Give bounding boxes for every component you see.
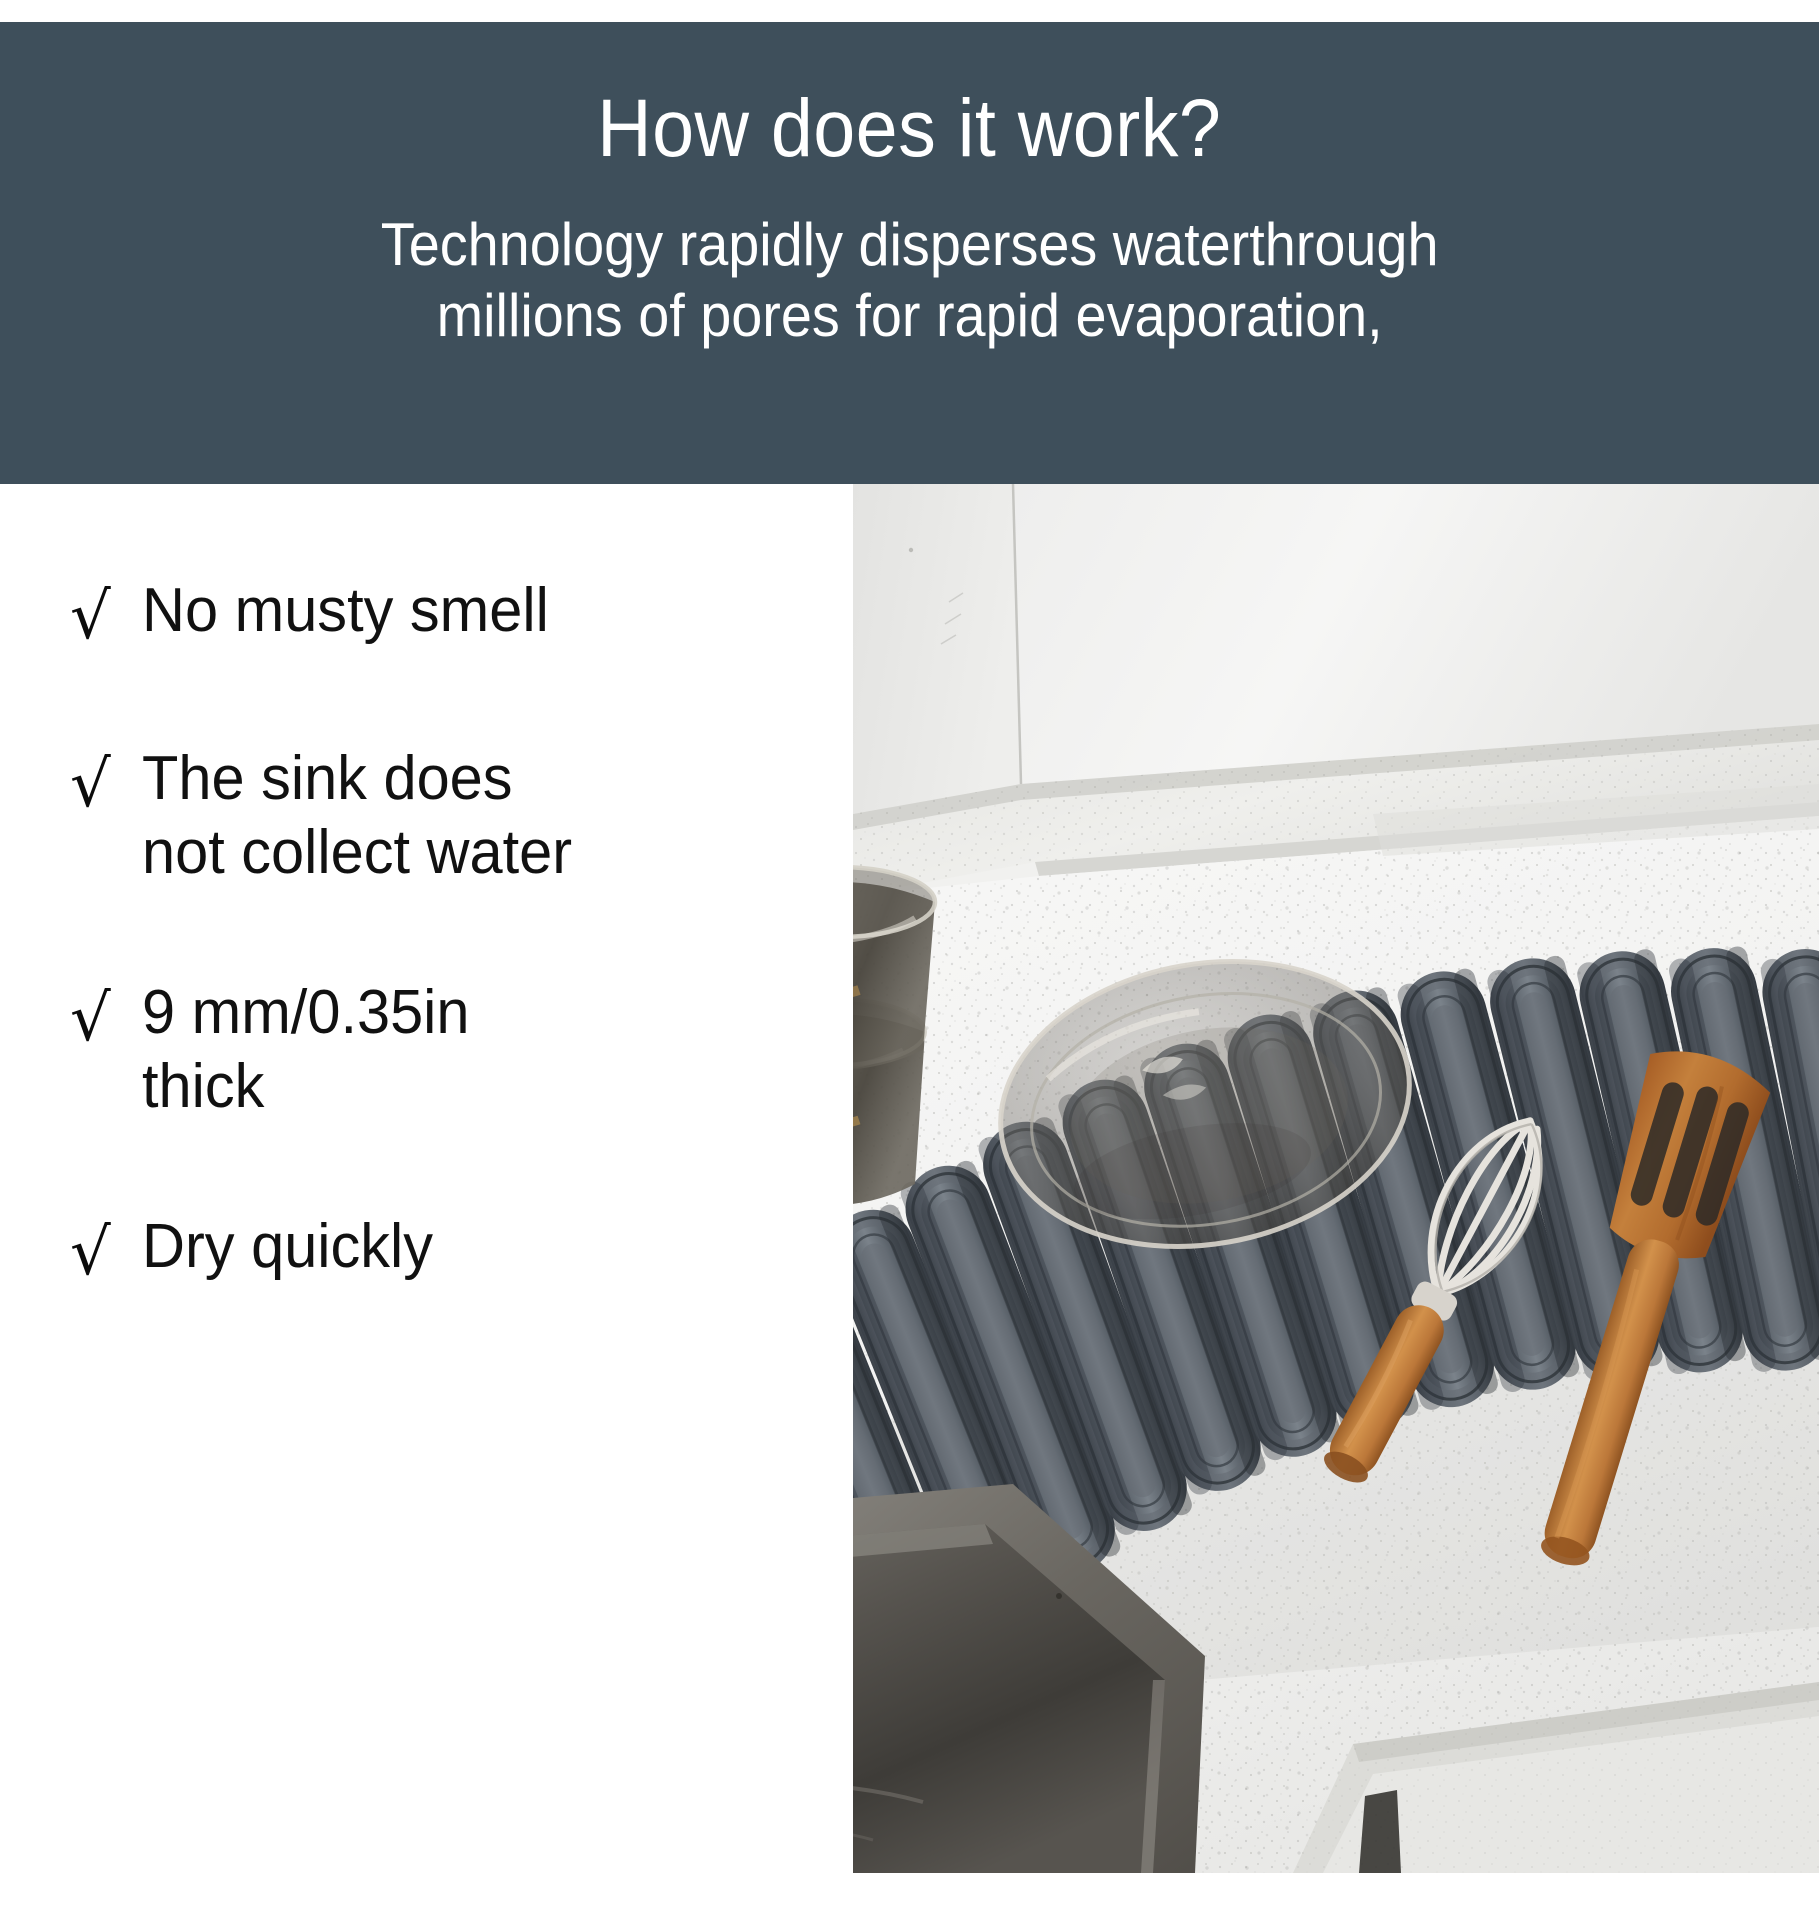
list-item: √ No musty smell [70, 574, 830, 654]
feature-label-3-line-2: thick [142, 1050, 802, 1124]
subtitle-line-2: millions of pores for rapid evaporation, [381, 281, 1439, 352]
list-item: √ The sink does not collect water [70, 742, 830, 890]
product-photo [853, 484, 1819, 1873]
page-title: How does it work? [597, 88, 1221, 170]
feature-label-2-line-1: The sink does [142, 742, 802, 816]
feature-label-4: Dry quickly [142, 1210, 802, 1284]
list-item: √ 9 mm/0.35in thick [70, 976, 830, 1124]
glass-tumbler-front [853, 867, 935, 1070]
wall-mark [909, 548, 913, 552]
feature-label-1: No musty smell [142, 574, 802, 648]
feature-label-3-line-1: 9 mm/0.35in [142, 976, 802, 1050]
check-icon: √ [70, 1210, 142, 1290]
feature-panel: √ No musty smell √ The sink does not col… [0, 484, 853, 1920]
left-wall [853, 484, 1021, 814]
feature-label-2: The sink does not collect water [142, 742, 802, 890]
cutout-gap [1359, 1790, 1401, 1873]
check-icon: √ [70, 742, 142, 822]
check-icon: √ [70, 574, 142, 654]
check-icon: √ [70, 976, 142, 1056]
feature-label-1-line-1: No musty smell [142, 574, 802, 648]
feature-label-3: 9 mm/0.35in thick [142, 976, 802, 1124]
page-subtitle: Technology rapidly disperses waterthroug… [381, 210, 1439, 352]
feature-list: √ No musty smell √ The sink does not col… [70, 574, 830, 1290]
feature-label-4-line-1: Dry quickly [142, 1210, 802, 1284]
subtitle-line-1: Technology rapidly disperses waterthroug… [381, 210, 1439, 281]
feature-label-2-line-2: not collect water [142, 816, 802, 890]
header-banner: How does it work? Technology rapidly dis… [0, 22, 1819, 484]
kitchen-scene-illustration [853, 484, 1819, 1873]
list-item: √ Dry quickly [70, 1210, 830, 1290]
